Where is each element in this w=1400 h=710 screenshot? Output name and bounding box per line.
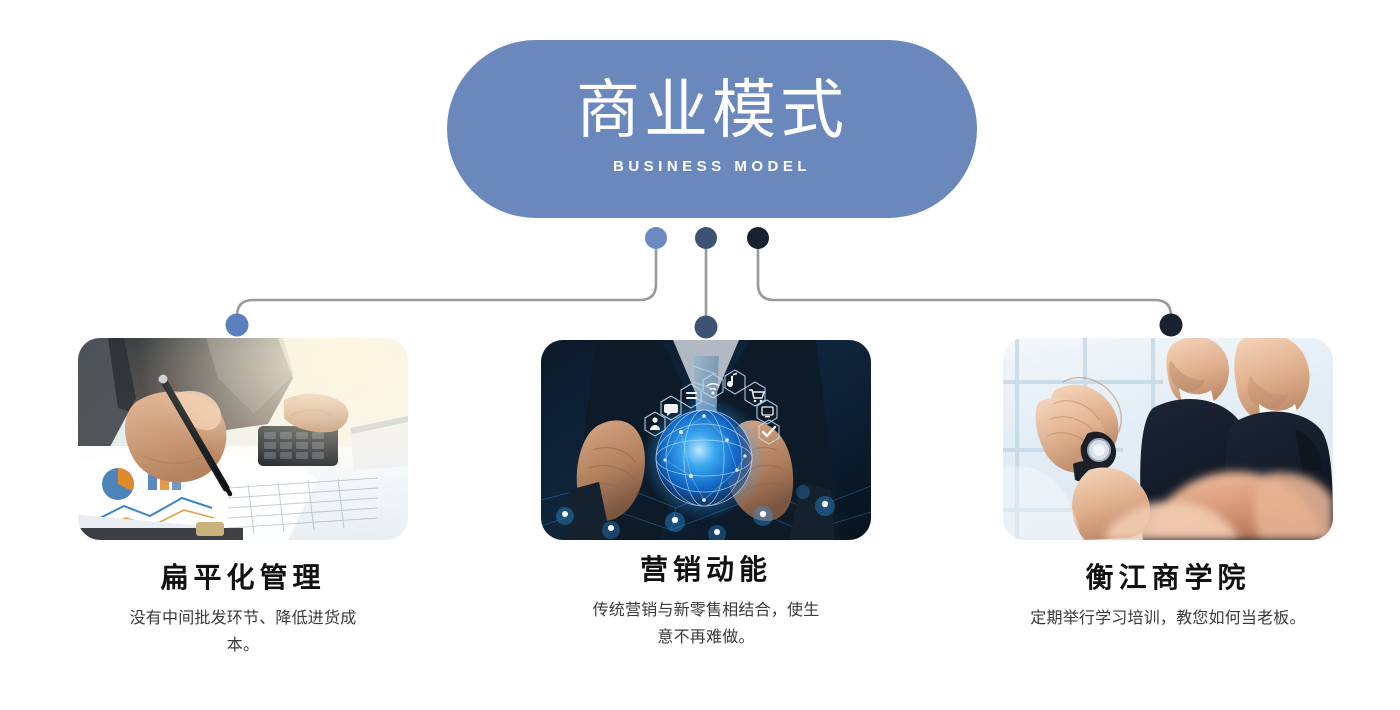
bottom-dot-right-icon bbox=[1160, 314, 1183, 337]
card-title: 扁平化管理 bbox=[78, 562, 408, 594]
connector-line-right bbox=[758, 238, 1171, 325]
list-icon bbox=[686, 392, 697, 394]
page-title: 商业模式 bbox=[576, 78, 848, 142]
connector-line-left bbox=[237, 238, 656, 325]
card-caption: 扁平化管理 没有中间批发环节、降低进货成本。 bbox=[78, 562, 408, 659]
card-title: 营销动能 bbox=[541, 554, 871, 586]
card-flat-management[interactable]: 扁平化管理 没有中间批发环节、降低进货成本。 bbox=[78, 338, 408, 659]
bottom-dot-left-icon bbox=[226, 314, 249, 337]
card-title: 衡江商学院 bbox=[1003, 562, 1333, 594]
page-subtitle: BUSINESS MODEL bbox=[613, 158, 811, 175]
infographic-canvas: 商业模式 BUSINESS MODEL bbox=[0, 0, 1400, 710]
businessmen-applauding-photo bbox=[1003, 338, 1333, 540]
top-dot-right-icon bbox=[747, 227, 769, 249]
top-dot-left-icon bbox=[645, 227, 667, 249]
card-hengjiang-business-school[interactable]: 衡江商学院 定期举行学习培训，教您如何当老板。 bbox=[1003, 338, 1333, 633]
card-marketing-momentum[interactable]: 营销动能 传统营销与新零售相结合，使生意不再难做。 bbox=[541, 340, 871, 651]
card-description: 没有中间批发环节、降低进货成本。 bbox=[118, 606, 368, 659]
user-icon bbox=[652, 417, 657, 422]
header-pill: 商业模式 BUSINESS MODEL bbox=[447, 40, 977, 218]
card-description: 定期举行学习培训，教您如何当老板。 bbox=[1003, 606, 1333, 632]
hand-with-pen-on-financial-charts-photo bbox=[78, 338, 408, 540]
digital-network-globe-in-hands-photo bbox=[541, 340, 871, 540]
card-description: 传统营销与新零售相结合，使生意不再难做。 bbox=[587, 598, 825, 651]
card-caption: 衡江商学院 定期举行学习培训，教您如何当老板。 bbox=[1003, 562, 1333, 633]
card-caption: 营销动能 传统营销与新零售相结合，使生意不再难做。 bbox=[541, 554, 871, 651]
top-dot-middle-icon bbox=[695, 227, 717, 249]
bottom-dot-middle-icon bbox=[695, 316, 718, 339]
